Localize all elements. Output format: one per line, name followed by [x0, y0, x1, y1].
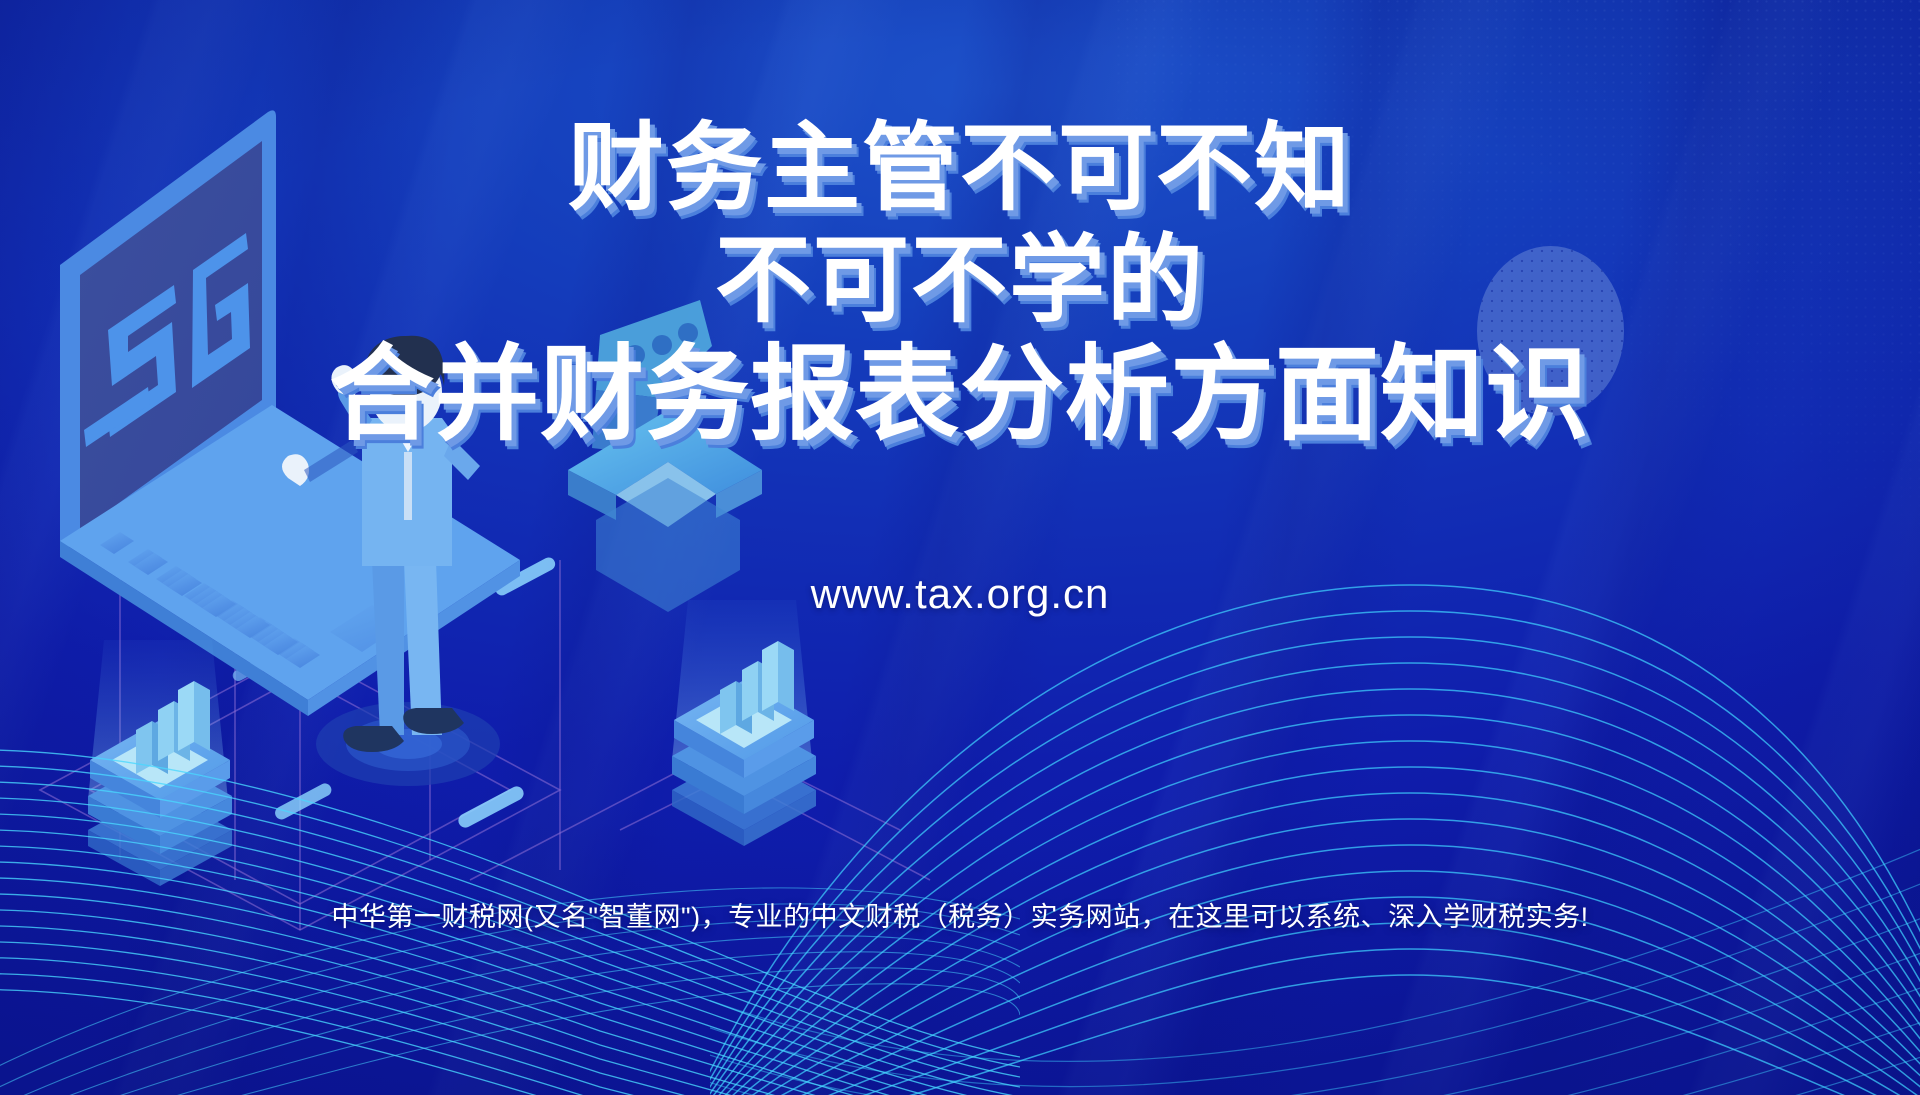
tagline-text: 中华第一财税网(又名"智董网")，专业的中文财税（税务）实务网站，在这里可以系统…: [0, 895, 1920, 934]
headline-line-2: 不可不学的: [0, 230, 1920, 332]
headline-block: 财务主管不可不知 不可不学的 合并财务报表分析方面知识: [0, 118, 1920, 450]
headline-line-1: 财务主管不可不知: [0, 118, 1920, 220]
website-url[interactable]: www.tax.org.cn: [0, 570, 1920, 618]
promo-banner: 财务主管不可不知 不可不学的 合并财务报表分析方面知识 www.tax.org.…: [0, 0, 1920, 1095]
headline-line-3: 合并财务报表分析方面知识: [0, 340, 1920, 450]
